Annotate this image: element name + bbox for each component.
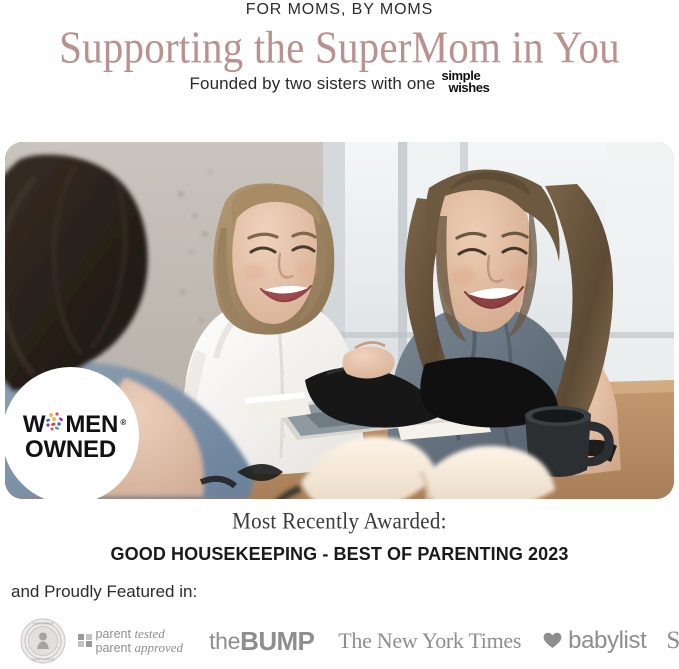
women-owned-men: MEN [65, 411, 118, 438]
press-logo-the-strategist: theStrategist [666, 627, 679, 655]
promo-banner: FOR MOMS, BY MOMS Supporting the SuperMo… [0, 0, 679, 669]
founded-row: Founded by two sisters with one simple w… [0, 74, 679, 100]
confetti-icon [45, 431, 65, 432]
brand-line-2: wishes [441, 80, 489, 95]
press-logo-babylist: babylist [543, 628, 646, 654]
press-logo-the-bump: theBUMP [209, 627, 314, 655]
ptpa-text: parent tested parent approved [96, 627, 184, 655]
press-logo-cribsie-seal: AWARD WINNER PARENT FAVORITE [0, 618, 66, 664]
simple-wishes-logo: simple wishes [441, 70, 489, 93]
ptpa-grid-icon [78, 634, 92, 648]
women-owned-w: W [23, 411, 45, 438]
bump-the: the [209, 627, 240, 655]
women-owned-line-1: W MEN® [23, 412, 118, 437]
women-owned-line-2: OWNED [2, 437, 139, 462]
strategist-name: Strategist [666, 627, 679, 655]
svg-text:PARENT FAVORITE: PARENT FAVORITE [31, 657, 55, 661]
eyebrow-text: FOR MOMS, BY MOMS [0, 1, 679, 19]
ptpa-line-1: parent tested [96, 627, 165, 641]
women-owned-badge-text: W MEN® OWNED [2, 412, 139, 462]
svg-text:AWARD WINNER: AWARD WINNER [32, 621, 53, 625]
award-seal-icon: AWARD WINNER PARENT FAVORITE [20, 618, 66, 664]
press-logo-row: AWARD WINNER PARENT FAVORITE parent test… [0, 612, 679, 669]
press-logo-new-york-times: The New York Times [338, 628, 521, 654]
registered-mark: ® [120, 410, 126, 435]
founded-text: Founded by two sisters with one [190, 74, 436, 94]
featured-in-label: and Proudly Featured in: [11, 582, 197, 602]
black-bag [305, 357, 558, 427]
award-intro: Most Recently Awarded: [0, 508, 679, 534]
heart-icon [543, 632, 562, 649]
women-owned-badge: W MEN® OWNED [2, 367, 139, 504]
ptpa-line-2: parent approved [96, 641, 184, 655]
award-name: GOOD HOUSEKEEPING - BEST OF PARENTING 20… [0, 543, 679, 565]
babylist-name: babylist [568, 628, 646, 654]
page-title: Supporting the SuperMom in You [0, 20, 679, 74]
bump-name: BUMP [240, 627, 314, 655]
press-logo-ptpa: parent tested parent approved [78, 627, 183, 655]
